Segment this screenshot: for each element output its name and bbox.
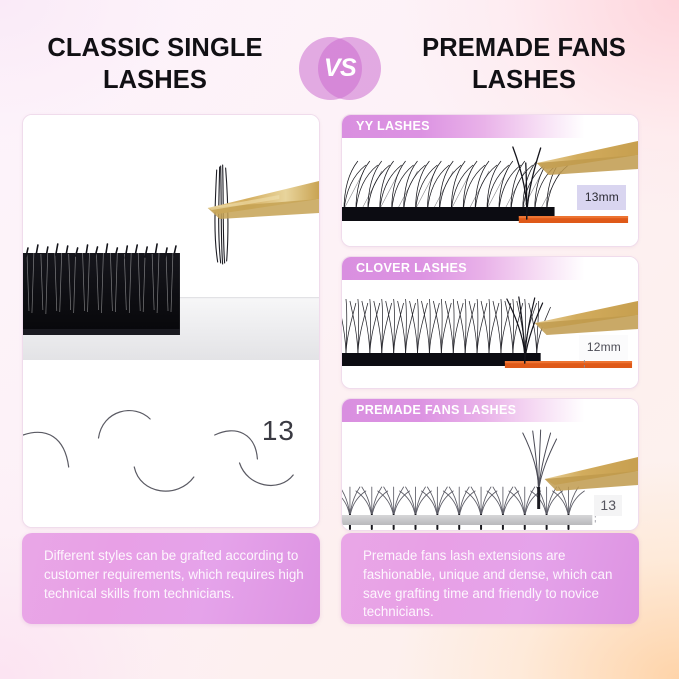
panel-label-clover: CLOVER LASHES (342, 257, 638, 280)
panel-yy-lashes: YY LASHES (341, 114, 639, 247)
panel-clover-lashes: CLOVER LASHES (341, 256, 639, 389)
left-media-card: 13 (22, 114, 320, 528)
right-caption: Premade fans lash extensions are fashion… (341, 533, 639, 624)
panel-label-premade: PREMADE FANS LASHES (342, 399, 638, 422)
right-title: PREMADE FANS LASHES (382, 32, 666, 97)
right-column: YY LASHES (341, 114, 639, 624)
premade-size-tag: 13 (594, 495, 622, 516)
header: CLASSIC SINGLE LASHES VS PREMADE FANS LA… (0, 0, 679, 112)
comparison-infographic: CLASSIC SINGLE LASHES VS PREMADE FANS LA… (0, 0, 679, 679)
clover-size-tag: 12mm (579, 335, 628, 360)
left-column: 13 Different styles can be grafted accor… (22, 114, 320, 624)
left-caption: Different styles can be grafted accordin… (22, 533, 320, 624)
panel-label-yy: YY LASHES (342, 115, 638, 138)
panel-premade-fans-lashes: PREMADE FANS LASHES (341, 398, 639, 531)
vs-badge: VS (299, 37, 381, 100)
left-title: CLASSIC SINGLE LASHES (14, 32, 296, 97)
yy-size-tag: 13mm (577, 185, 626, 210)
vs-label: VS (299, 37, 381, 100)
classic-lashes-illustration (23, 115, 319, 527)
left-size-label: 13 (262, 415, 295, 447)
